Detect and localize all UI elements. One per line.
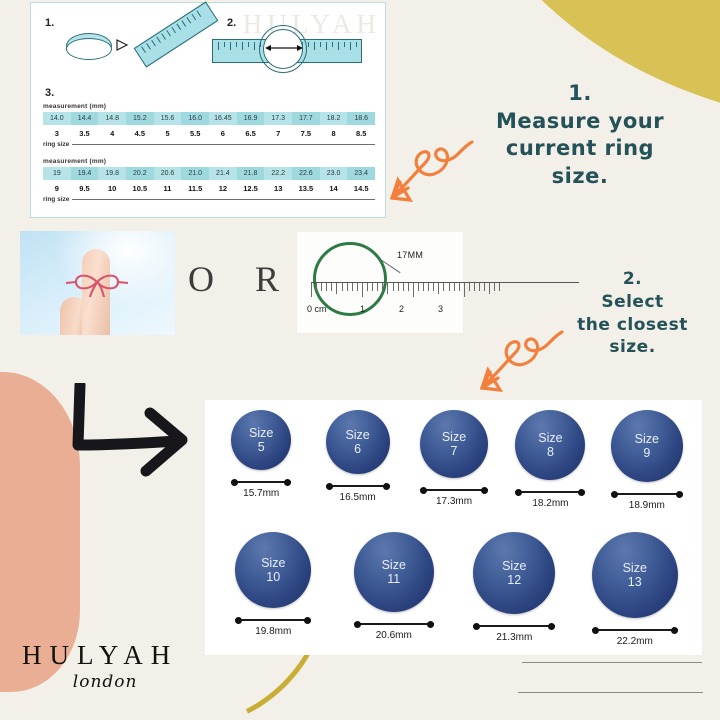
table-2-size-row: 9 9.5 10 10.5 11 11.5 12 12.5 13 13.5 14…: [43, 181, 375, 196]
table-cell: 4.5: [126, 126, 154, 141]
measurement-chart-card: HULYAH london 1. 2.: [30, 2, 386, 218]
size-disc[interactable]: Size 8: [515, 410, 585, 480]
size-chart-row-1: Size 5 15.7mm Size 6 16.5mm: [213, 410, 695, 511]
ruler-scale-label: 3: [438, 304, 443, 314]
table-cell: 5: [154, 126, 182, 141]
size-option-7[interactable]: Size 7 17.3mm: [406, 410, 502, 511]
footer-rule-2: [518, 692, 703, 693]
measure-bar: [599, 489, 695, 499]
size-option-8[interactable]: Size 8 18.2mm: [502, 410, 598, 511]
table-cell: 20.6: [154, 167, 182, 180]
table-cell: 12.5: [237, 181, 265, 196]
size-disc[interactable]: Size 13: [592, 532, 678, 618]
table-cell: 18.6: [347, 112, 375, 125]
ruler-scale-label: 0 cm: [307, 304, 327, 314]
size-word: Size: [538, 431, 562, 445]
orange-curly-arrow-icon-1: [372, 132, 482, 218]
size-word: Size: [249, 426, 273, 440]
table-1-footer-label: ring size: [43, 141, 69, 148]
table-cell: 19.4: [71, 167, 99, 180]
table-cell: 23.4: [347, 167, 375, 180]
ruler-measure-card: 17MM 0 cm 1 2 3: [297, 232, 463, 333]
size-option-5[interactable]: Size 5 15.7mm: [213, 410, 309, 511]
table-cell: 3: [43, 126, 71, 141]
table-cell: 8.5: [347, 126, 375, 141]
measure-bar: [502, 487, 598, 497]
table-cell: 16.45: [209, 112, 237, 125]
chart-step-2-number: 2.: [227, 17, 236, 29]
table-cell: 19.8: [98, 167, 126, 180]
size-measurement: 16.5mm: [309, 492, 405, 503]
size-table-1: measurement (mm) 14.0 14.4 14.8 15.2 15.…: [43, 103, 375, 148]
size-number: 10: [266, 570, 280, 584]
table-cell: 13: [264, 181, 292, 196]
size-measurement: 18.9mm: [599, 500, 695, 511]
measure-bar: [454, 621, 575, 631]
table-2-label: measurement (mm): [43, 158, 375, 165]
size-option-6[interactable]: Size 6 16.5mm: [309, 410, 405, 511]
ring-inner-oval: [66, 38, 112, 60]
table-cell: 11: [154, 181, 182, 196]
table-1-mm-row: 14.0 14.4 14.8 15.2 15.6 16.0 16.45 16.9…: [43, 112, 375, 125]
size-disc[interactable]: Size 7: [420, 410, 488, 478]
table-cell: 11.5: [181, 181, 209, 196]
measure-bar: [213, 477, 309, 487]
table-cell: 4: [98, 126, 126, 141]
footer-rule-1: [522, 662, 702, 663]
string-bow-icon: [66, 271, 128, 297]
table-1-rule: [72, 144, 375, 145]
size-word: Size: [442, 430, 466, 444]
size-disc[interactable]: Size 12: [473, 532, 555, 614]
size-word: Size: [635, 432, 659, 446]
size-disc[interactable]: Size 9: [611, 410, 683, 482]
table-cell: 9.5: [71, 181, 99, 196]
size-number: 5: [258, 440, 265, 454]
size-number: 9: [643, 446, 650, 460]
table-2-rule: [72, 199, 375, 200]
size-number: 11: [387, 572, 400, 586]
table-cell: 16.0: [181, 112, 209, 125]
size-measurement: 15.7mm: [213, 488, 309, 499]
table-cell: 22.2: [264, 167, 292, 180]
brand-sublabel: london: [22, 672, 178, 692]
table-cell: 15.6: [154, 112, 182, 125]
finger-with-string-photo: [20, 231, 175, 335]
table-cell: 14: [320, 181, 348, 196]
size-number: 13: [628, 575, 642, 589]
size-option-11[interactable]: Size 11 20.6mm: [334, 532, 455, 647]
size-number: 7: [451, 444, 458, 458]
table-2-footer: ring size: [43, 196, 375, 203]
table-cell: 16.9: [237, 112, 265, 125]
table-cell: 20.2: [126, 167, 154, 180]
table-cell: 12: [209, 181, 237, 196]
ruler-scale-label: 1: [360, 304, 365, 314]
ruler-scale-label: 2: [399, 304, 404, 314]
table-cell: 14.8: [98, 112, 126, 125]
orange-curly-arrow-icon-2: [462, 322, 572, 408]
table-cell: 7: [264, 126, 292, 141]
ring-size-chart-panel: Size 5 15.7mm Size 6 16.5mm: [205, 400, 702, 655]
table-cell: 22.6: [292, 167, 320, 180]
size-option-12[interactable]: Size 12 21.3mm: [454, 532, 575, 647]
table-cell: 19: [43, 167, 71, 180]
size-disc[interactable]: Size 6: [326, 410, 390, 474]
diameter-arrow-icon: [265, 43, 303, 53]
table-cell: 10: [98, 181, 126, 196]
size-word: Size: [502, 559, 526, 573]
size-disc[interactable]: Size 10: [235, 532, 311, 608]
table-cell: 7.5: [292, 126, 320, 141]
step-1-instruction: 1. Measure your current ring size.: [455, 80, 705, 191]
table-cell: 3.5: [71, 126, 99, 141]
table-cell: 6: [209, 126, 237, 141]
table-1-size-row: 3 3.5 4 4.5 5 5.5 6 6.5 7 7.5 8 8.5: [43, 126, 375, 141]
size-measurement: 21.3mm: [454, 632, 575, 643]
table-cell: 14.0: [43, 112, 71, 125]
size-disc[interactable]: Size 11: [354, 532, 434, 612]
size-option-13[interactable]: Size 13 22.2mm: [575, 532, 696, 647]
or-divider-text: O R: [188, 258, 295, 300]
size-chart-row-2: Size 10 19.8mm Size 11 20.6mm: [213, 532, 695, 647]
measure-bar: [334, 619, 455, 629]
size-measurement: 18.2mm: [502, 498, 598, 509]
table-cell: 21.0: [181, 167, 209, 180]
ruler-diagonal: [134, 1, 219, 67]
measure-bar: [575, 625, 696, 635]
table-cell: 21.4: [209, 167, 237, 180]
ruler-tick-marks: [311, 283, 505, 297]
measure-bar: [406, 485, 502, 495]
size-number: 8: [547, 445, 554, 459]
table-cell: 14.4: [71, 112, 99, 125]
table-2-footer-label: ring size: [43, 196, 69, 203]
table-cell: 10.5: [126, 181, 154, 196]
size-measurement: 20.6mm: [334, 630, 455, 641]
brand-name: HULYAH: [22, 640, 178, 671]
table-cell: 15.2: [126, 112, 154, 125]
table-cell: 23.0: [320, 167, 348, 180]
size-measurement: 19.8mm: [213, 626, 334, 637]
chart-step-1-number: 1.: [45, 17, 54, 29]
table-cell: 17.7: [292, 112, 320, 125]
size-word: Size: [261, 556, 285, 570]
size-number: 6: [354, 442, 361, 456]
size-measurement: 22.2mm: [575, 636, 696, 647]
size-word: Size: [382, 558, 406, 572]
table-1-label: measurement (mm): [43, 103, 375, 110]
table-2-mm-row: 19 19.4 19.8 20.2 20.6 21.0 21.4 21.8 22…: [43, 167, 375, 180]
black-pointer-arrow-icon: [58, 383, 208, 488]
table-cell: 13.5: [292, 181, 320, 196]
table-1-footer: ring size: [43, 141, 375, 148]
size-measurement: 17.3mm: [406, 496, 502, 507]
table-cell: 9: [43, 181, 71, 196]
table-cell: 21.8: [237, 167, 265, 180]
table-cell: 5.5: [181, 126, 209, 141]
size-word: Size: [623, 561, 647, 575]
size-table-2: measurement (mm) 19 19.4 19.8 20.2 20.6 …: [43, 158, 375, 203]
table-cell: 6.5: [237, 126, 265, 141]
measure-bar: [309, 481, 405, 491]
table-cell: 17.3: [264, 112, 292, 125]
size-number: 12: [507, 573, 521, 587]
size-option-9[interactable]: Size 9 18.9mm: [599, 410, 695, 511]
ring-diameter-callout: 17MM: [397, 250, 423, 260]
table-cell: 14.5: [347, 181, 375, 196]
size-disc[interactable]: Size 5: [231, 410, 291, 470]
small-pointer-icon: [115, 39, 129, 51]
chart-step-3-number: 3.: [45, 87, 54, 99]
brand-logo: HULYAH london: [22, 640, 178, 692]
size-option-10[interactable]: Size 10 19.8mm: [213, 532, 334, 647]
size-word: Size: [345, 428, 369, 442]
table-cell: 18.2: [320, 112, 348, 125]
table-cell: 8: [320, 126, 348, 141]
measure-bar: [213, 615, 334, 625]
